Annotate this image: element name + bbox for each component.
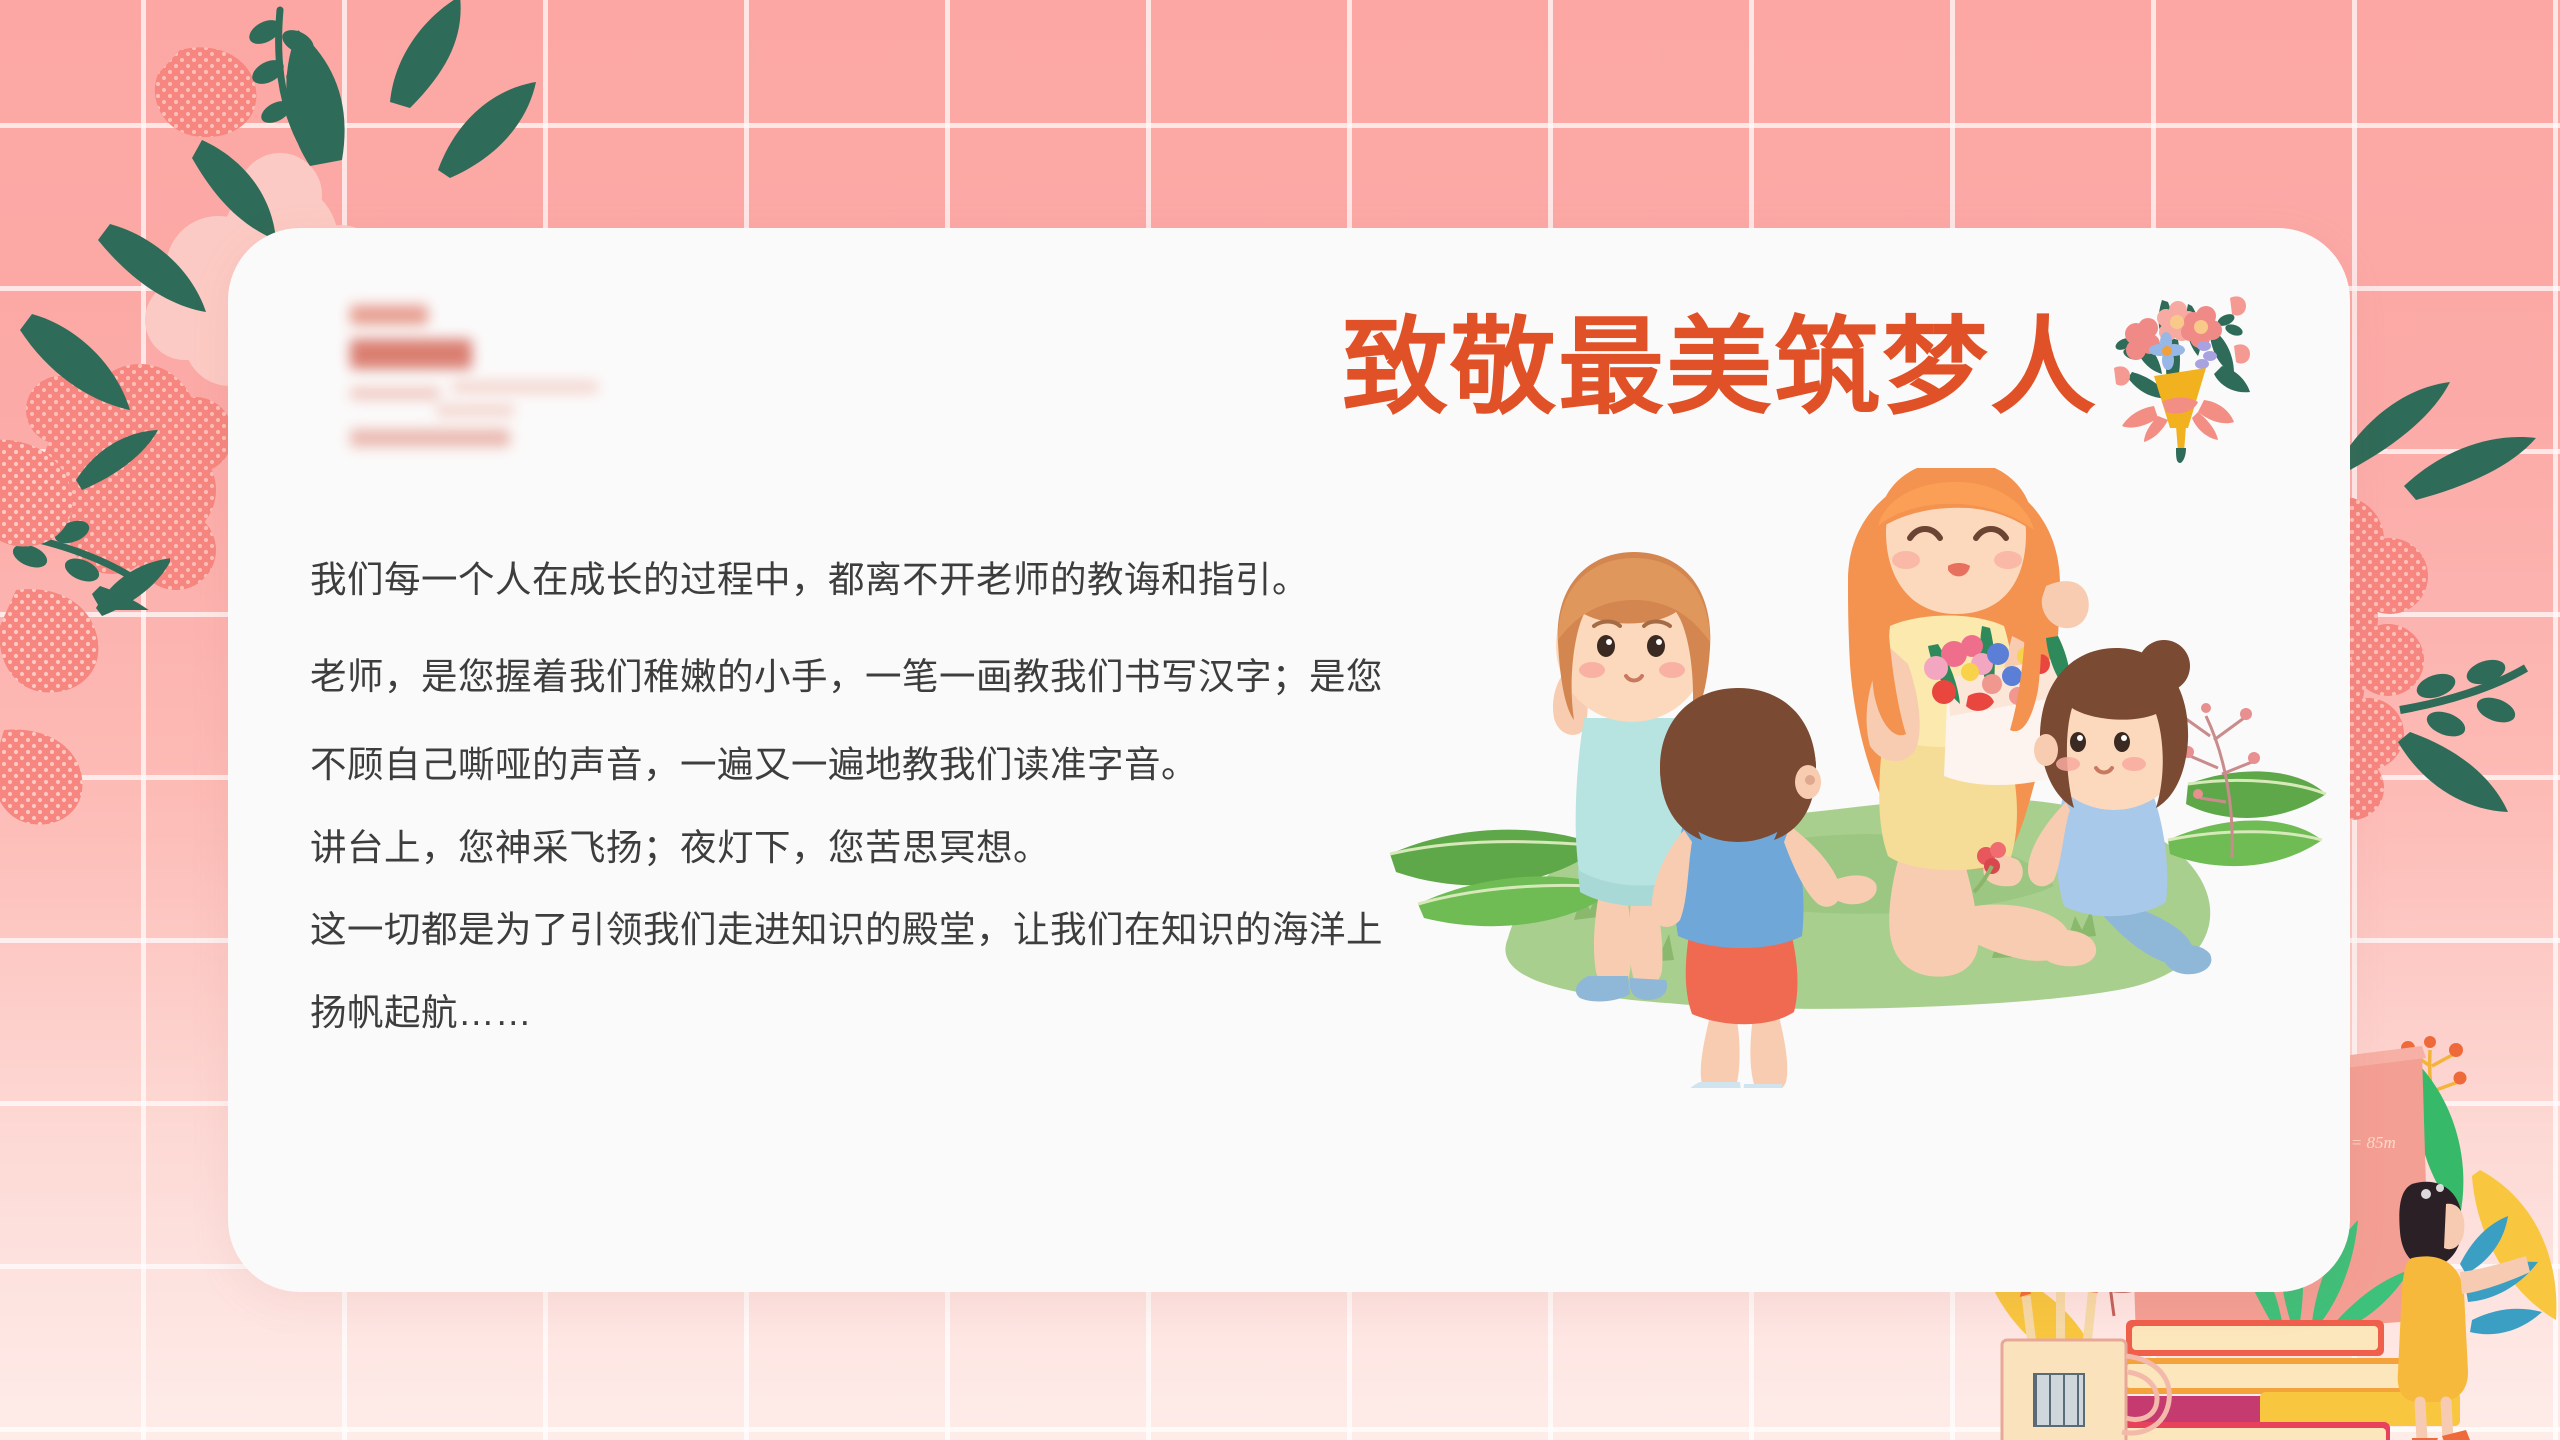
- paragraph-1: 我们每一个人在成长的过程中，都离不开老师的教诲和指引。: [310, 562, 1490, 599]
- boy-back-figure: [1652, 688, 1877, 1088]
- paragraph-4: 讲台上，您神采飞扬；夜灯下，您苦思冥想。: [310, 830, 1490, 867]
- bouquet-icon: [2104, 280, 2254, 465]
- title-row: 致敬最美筑梦人: [1342, 280, 2254, 457]
- teacher-with-children-illustration: [1378, 468, 2328, 1088]
- right-leaves: [2168, 703, 2326, 866]
- paragraph-6: 扬帆起航……: [310, 995, 1490, 1032]
- paragraph-5: 这一切都是为了引领我们走进知识的殿堂，让我们在知识的海洋上: [310, 912, 1490, 949]
- paragraph-2: 老师，是您握着我们稚嫩的小手，一笔一画教我们书写汉字；是您: [310, 659, 1490, 696]
- paragraph-3: 不顾自己嘶哑的声音，一遍又一遍地教我们读准字音。: [310, 747, 1490, 784]
- organization-logo: [336, 301, 636, 441]
- main-content-card: 致敬最美筑梦人: [228, 228, 2350, 1292]
- page-title: 致敬最美筑梦人: [1342, 302, 2098, 435]
- body-text: 我们每一个人在成长的过程中，都离不开老师的教诲和指引。 老师，是您握着我们稚嫩的…: [310, 562, 1490, 1031]
